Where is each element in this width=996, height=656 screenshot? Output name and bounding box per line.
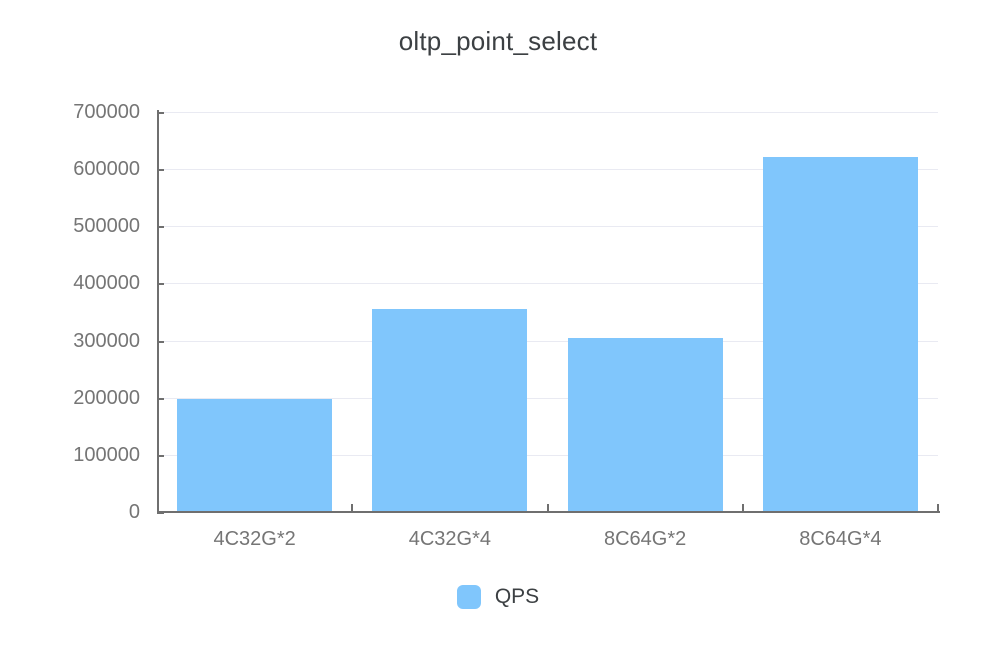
y-axis-tick-mark bbox=[157, 226, 164, 228]
x-axis-tick-mark bbox=[937, 504, 939, 512]
x-axis-tick-label: 8C64G*4 bbox=[743, 527, 938, 551]
x-axis-tick-label: 8C64G*2 bbox=[548, 527, 743, 551]
bar-4c32gx4[interactable] bbox=[372, 309, 527, 512]
y-axis-tick-label: 0 bbox=[36, 502, 140, 522]
y-axis-tick-mark bbox=[157, 283, 164, 285]
y-axis-tick-mark bbox=[157, 169, 164, 171]
x-axis-tick-label: 4C32G*4 bbox=[352, 527, 547, 551]
x-axis-line bbox=[157, 511, 940, 513]
y-axis-tick-labels: 7000006000005000004000003000002000001000… bbox=[36, 0, 140, 656]
y-axis-tick-label: 200000 bbox=[36, 388, 140, 408]
y-axis-tick-mark bbox=[157, 398, 164, 400]
y-axis-tick-mark bbox=[157, 341, 164, 343]
y-axis-tick-mark bbox=[157, 112, 164, 114]
y-axis-tick-label: 400000 bbox=[36, 273, 140, 293]
y-axis-tick-label: 300000 bbox=[36, 331, 140, 351]
x-axis-tick-label: 4C32G*2 bbox=[157, 527, 352, 551]
y-axis-tick-mark bbox=[157, 512, 164, 514]
chart-legend: QPS bbox=[0, 585, 996, 609]
y-axis-tick-label: 100000 bbox=[36, 445, 140, 465]
bar-8c64gx4[interactable] bbox=[763, 157, 918, 512]
x-axis-tick-mark bbox=[547, 504, 549, 512]
bar-4c32gx2[interactable] bbox=[177, 399, 332, 512]
plot-area bbox=[157, 112, 938, 512]
chart-container: oltp_point_select 7000006000005000004000… bbox=[0, 0, 996, 656]
gridline bbox=[157, 112, 938, 113]
legend-swatch-qps bbox=[457, 585, 481, 609]
y-axis-tick-label: 700000 bbox=[36, 102, 140, 122]
chart-title: oltp_point_select bbox=[0, 26, 996, 57]
y-axis-tick-mark bbox=[157, 455, 164, 457]
y-axis-tick-label: 500000 bbox=[36, 216, 140, 236]
bar-8c64gx2[interactable] bbox=[568, 338, 723, 512]
y-axis-tick-label: 600000 bbox=[36, 159, 140, 179]
x-axis-tick-mark bbox=[742, 504, 744, 512]
legend-label-qps: QPS bbox=[495, 585, 539, 609]
x-axis-tick-mark bbox=[351, 504, 353, 512]
